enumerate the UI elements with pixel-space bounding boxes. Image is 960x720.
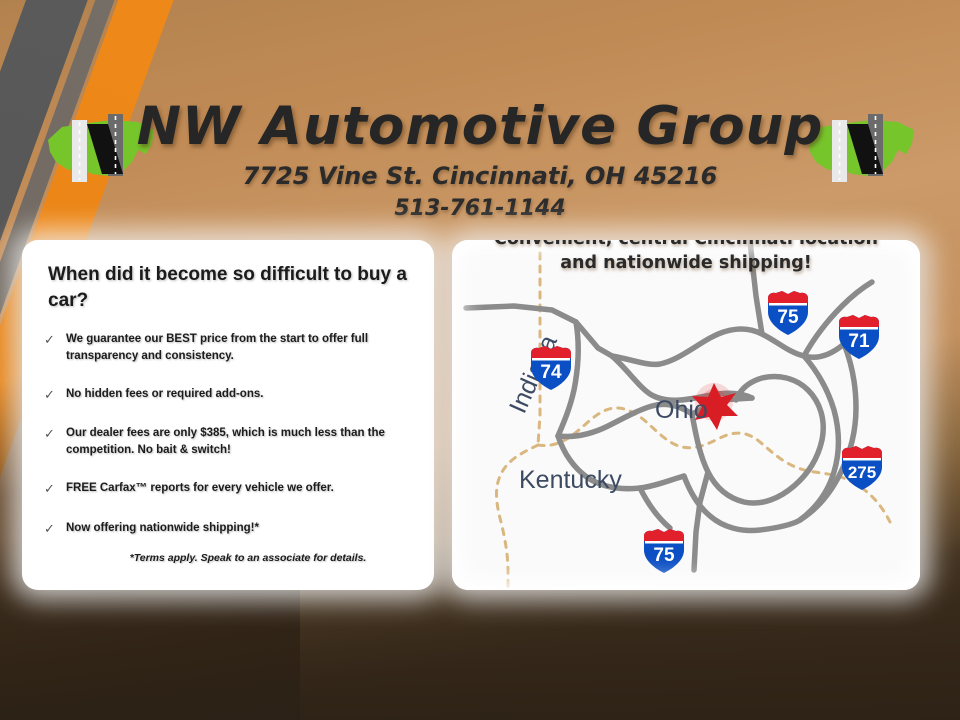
location-map-panel: IndianaOhioKentucky 74757127575 Convenie… xyxy=(452,240,920,590)
us-map-road-n-logo-secondary xyxy=(802,110,920,188)
panel-heading: When did it become so difficult to buy a… xyxy=(48,262,408,313)
us-map-road-n-logo-icon xyxy=(802,110,920,188)
brand-phone: 513-761-1144 xyxy=(0,196,960,221)
check-icon: ✓ xyxy=(44,386,66,405)
interstate-number: 74 xyxy=(540,362,562,383)
us-map-road-n-logo-icon xyxy=(42,110,160,188)
benefit-item: ✓We guarantee our BEST price from the st… xyxy=(44,331,412,364)
benefit-item: ✓Our dealer fees are only $385, which is… xyxy=(44,425,412,458)
slide-canvas: NW Automotive Group 7725 Vine St. Cincin… xyxy=(0,0,960,720)
benefit-text: We guarantee our BEST price from the sta… xyxy=(66,331,412,364)
interstate-number: 75 xyxy=(653,545,675,566)
terms-disclaimer: *Terms apply. Speak to an associate for … xyxy=(22,552,434,564)
benefit-text: FREE Carfax™ reports for every vehicle w… xyxy=(66,480,334,497)
interstate-number: 75 xyxy=(777,307,799,328)
us-map-road-n-logo xyxy=(42,110,160,188)
value-proposition-panel: When did it become so difficult to buy a… xyxy=(22,240,434,590)
cincinnati-region-map: IndianaOhioKentucky 74757127575 xyxy=(452,240,920,590)
benefit-text: Our dealer fees are only $385, which is … xyxy=(66,425,412,458)
check-icon: ✓ xyxy=(44,331,66,350)
state-label-kentucky: Kentucky xyxy=(519,466,622,494)
benefit-item: ✓FREE Carfax™ reports for every vehicle … xyxy=(44,480,412,499)
benefit-item: ✓No hidden fees or required add-ons. xyxy=(44,386,412,405)
check-icon: ✓ xyxy=(44,480,66,499)
check-icon: ✓ xyxy=(44,520,66,539)
interstate-number: 275 xyxy=(848,463,876,482)
benefit-text: No hidden fees or required add-ons. xyxy=(66,386,263,403)
check-icon: ✓ xyxy=(44,425,66,444)
state-label-ohio: Ohio xyxy=(655,396,708,424)
benefits-list: ✓We guarantee our BEST price from the st… xyxy=(44,331,412,538)
benefit-text: Now offering nationwide shipping!* xyxy=(66,520,259,537)
benefit-item: ✓Now offering nationwide shipping!* xyxy=(44,520,412,539)
interstate-number: 71 xyxy=(848,331,870,352)
